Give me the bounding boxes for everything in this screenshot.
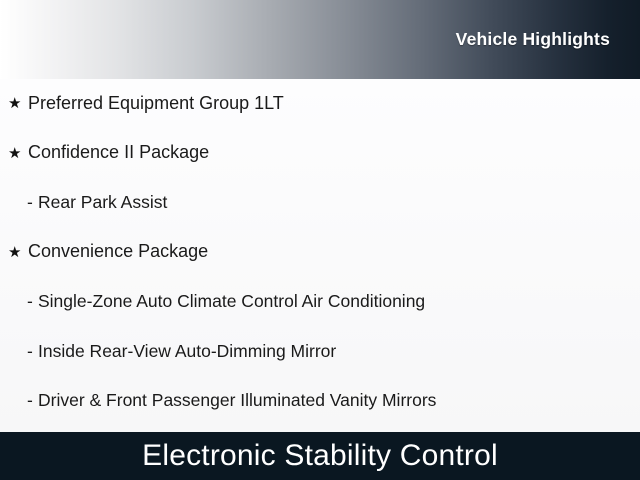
list-item-label: Driver & Front Passenger Illuminated Van… <box>38 390 436 411</box>
star-bullet-icon: ★ <box>8 146 28 161</box>
dash-bullet-icon: - <box>27 343 38 361</box>
dash-bullet-icon: - <box>27 293 38 311</box>
slide-footer: Electronic Stability Control <box>0 432 640 480</box>
list-item-label: Rear Park Assist <box>38 192 167 213</box>
list-item: - Driver & Front Passenger Illuminated V… <box>0 376 640 426</box>
dash-bullet-icon: - <box>27 194 38 212</box>
slide-header: Vehicle Highlights <box>0 0 640 79</box>
list-item: - Single-Zone Auto Climate Control Air C… <box>0 277 640 327</box>
star-bullet-icon: ★ <box>8 96 28 111</box>
list-item: ★ Preferred Equipment Group 1LT <box>0 79 640 129</box>
page-title: Vehicle Highlights <box>456 29 610 50</box>
list-item-label: Inside Rear-View Auto-Dimming Mirror <box>38 341 336 362</box>
vehicle-highlights-slide: Vehicle Highlights ★ Preferred Equipment… <box>0 0 640 480</box>
list-item: ★ Convenience Package <box>0 228 640 278</box>
list-item-label: Single-Zone Auto Climate Control Air Con… <box>38 291 425 312</box>
star-bullet-icon: ★ <box>8 245 28 260</box>
dash-bullet-icon: - <box>27 392 38 410</box>
list-item: - Inside Rear-View Auto-Dimming Mirror <box>0 327 640 377</box>
list-item: ★ Confidence II Package <box>0 129 640 179</box>
list-item-label: Preferred Equipment Group 1LT <box>28 93 284 115</box>
footer-title: Electronic Stability Control <box>142 439 498 473</box>
feature-list: ★ Preferred Equipment Group 1LT ★ Confid… <box>0 79 640 426</box>
slide-content: ★ Preferred Equipment Group 1LT ★ Confid… <box>0 79 640 432</box>
list-item-label: Confidence II Package <box>28 142 209 164</box>
list-item-label: Convenience Package <box>28 241 208 263</box>
list-item: - Rear Park Assist <box>0 178 640 228</box>
